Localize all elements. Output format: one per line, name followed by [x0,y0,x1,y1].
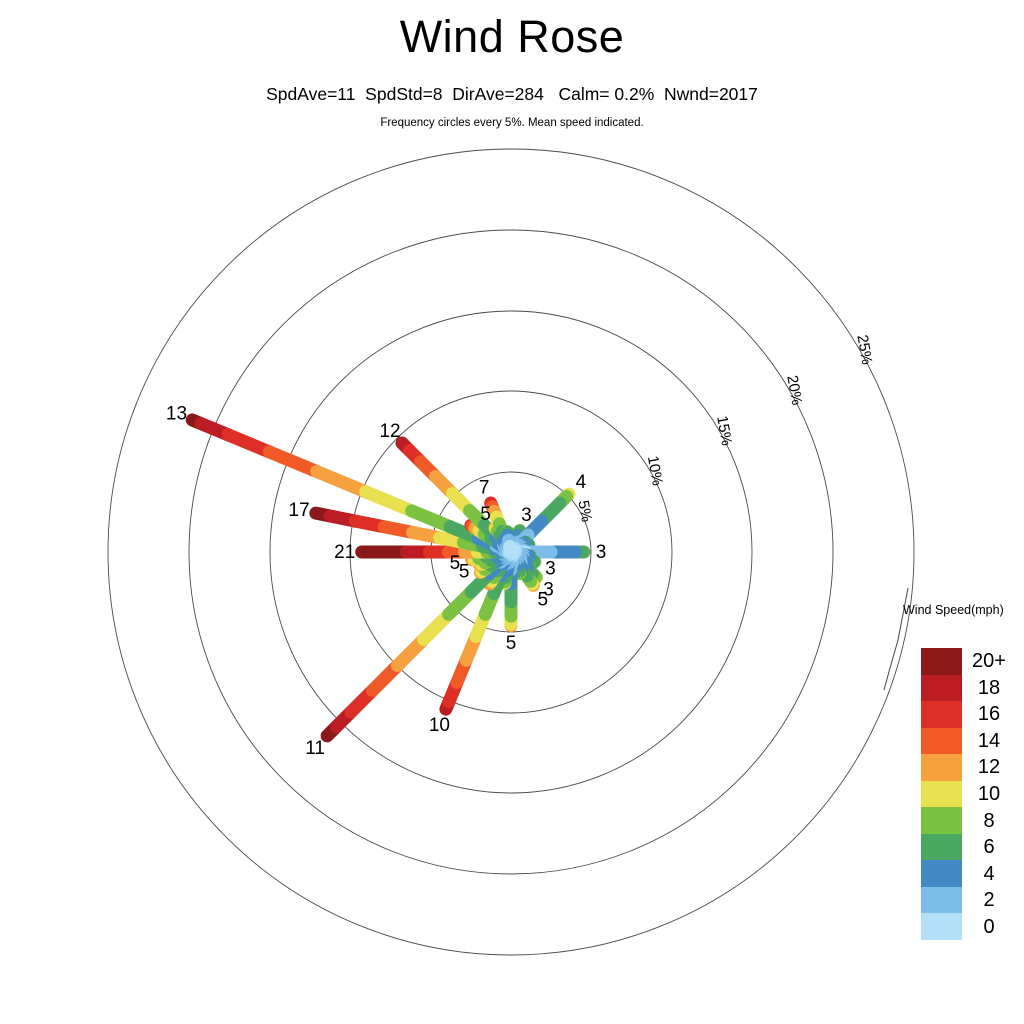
legend-swatch [921,860,962,887]
spoke-mean-speed-label: 5 [506,633,517,654]
spoke-mean-speed-label: 13 [166,403,187,424]
wind-rose-page: Wind Rose SpdAve=11 SpdStd=8 DirAve=284 … [0,0,1024,1024]
legend-swatch [921,648,962,675]
spoke-speed-segment [228,435,270,452]
legend-swatch [921,834,962,861]
legend-label: 14 [966,728,1024,755]
legend-swatch [921,807,962,834]
spoke-speed-segment [366,492,412,511]
spoke-mean-speed-label: 3 [545,558,556,579]
legend-label-list: 20+181614121086420 [966,648,1024,940]
ring-percent-label: 5% [574,499,595,523]
spoke-mean-speed-label: 17 [289,500,310,521]
spoke-speed-segment [269,452,316,472]
spoke-mean-speed-label: 5 [480,504,491,525]
legend-swatch [921,701,962,728]
direction-spoke [507,532,511,552]
legend-label: 4 [966,860,1024,887]
spoke-mean-speed-label: 21 [334,542,355,563]
legend-title: Wind Speed(mph) [903,603,1004,617]
spoke-mean-speed-label: 3 [596,542,607,563]
legend-swatch [921,913,962,940]
spoke-mean-speed-label: 11 [305,738,325,759]
spoke-mean-speed-label: 7 [479,477,490,498]
legend-label: 10 [966,781,1024,808]
ring-percent-labels: 5%10%15%20%25% [574,333,875,523]
legend-label: 16 [966,701,1024,728]
spoke-speed-segment [510,546,511,552]
legend-label: 8 [966,807,1024,834]
legend-swatch [921,781,962,808]
direction-spokes [192,420,584,736]
spoke-mean-speed-label: 5 [450,553,461,574]
ring-percent-label: 20% [783,374,805,407]
spoke-mean-speed-label: 12 [379,421,400,442]
legend-swatch [921,754,962,781]
ring-percent-label: 10% [644,454,666,487]
direction-spoke [327,552,511,736]
spoke-mean-speed-label: 5 [537,589,548,610]
legend-label: 20+ [966,648,1024,675]
legend-colorbar [921,648,962,940]
spoke-mean-speed-label: 4 [576,472,587,493]
legend-swatch [921,675,962,702]
legend-label: 18 [966,675,1024,702]
ring-percent-label: 25% [853,333,875,366]
spoke-speed-segment [317,472,366,492]
ring-percent-label: 15% [713,414,735,447]
legend-label: 12 [966,754,1024,781]
legend-label: 2 [966,887,1024,914]
spoke-mean-speed-label: 10 [429,715,450,736]
spoke-mean-speed-label: 3 [521,505,532,526]
legend-swatch [921,887,962,914]
spoke-mean-speed-label: 5 [459,561,470,582]
legend-label: 6 [966,834,1024,861]
wind-rose-plot: 34333551011552117131257 5%10%15%20%25% [0,0,1024,1024]
legend-swatch [921,728,962,755]
legend-label: 0 [966,913,1024,940]
